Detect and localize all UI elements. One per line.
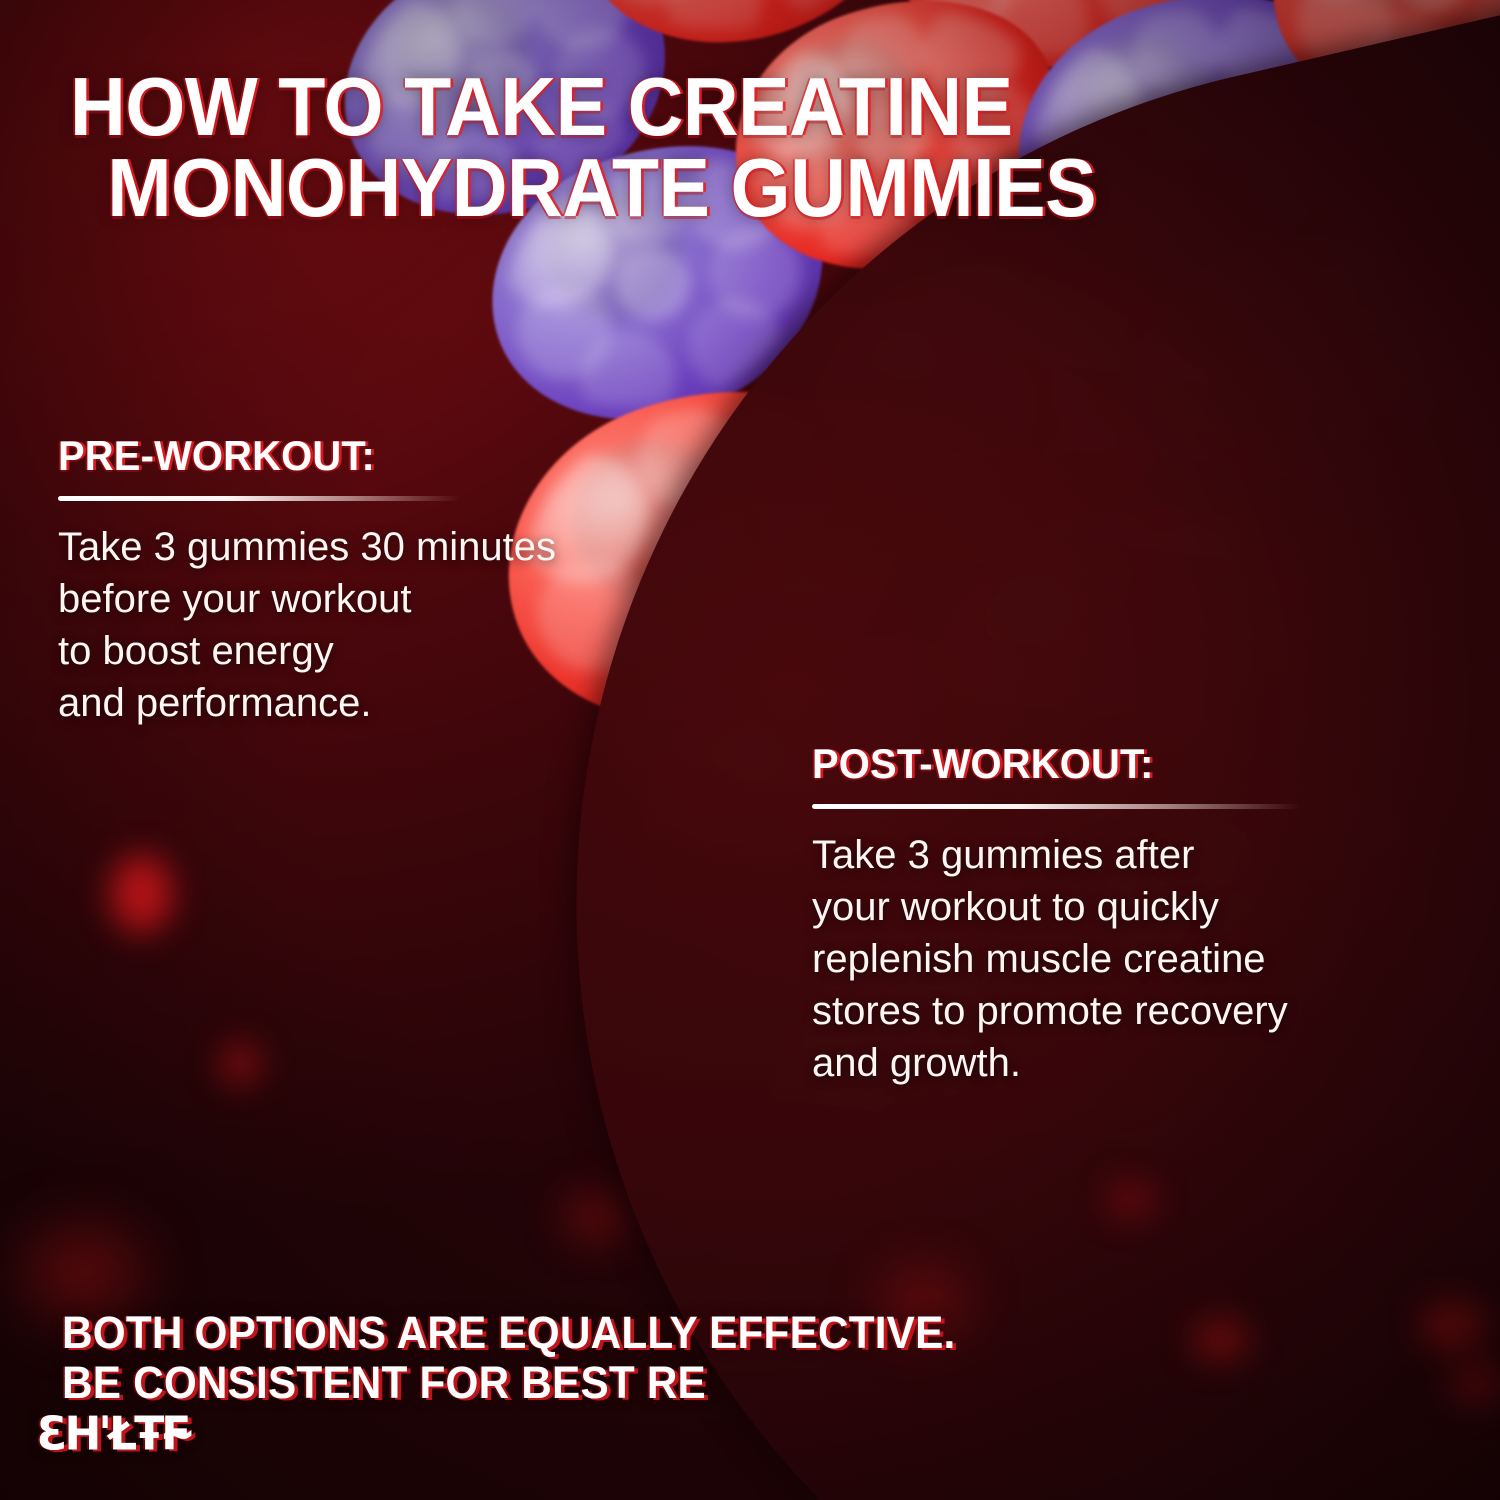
post-workout-section: POST-WORKOUT: Take 3 gummies after your … (812, 740, 1472, 1089)
post-workout-line: and growth. (812, 1037, 1472, 1089)
page-title: HOW TO TAKE CREATINE MONOHYDRATE GUMMIES (70, 66, 1242, 229)
pre-workout-line: before your workout (58, 573, 758, 625)
post-workout-divider (812, 804, 1300, 809)
post-workout-line: Take 3 gummies after (812, 829, 1472, 881)
pre-workout-body: Take 3 gummies 30 minutes before your wo… (58, 521, 758, 729)
pre-workout-line: and performance. (58, 677, 758, 729)
post-workout-heading: POST-WORKOUT: (812, 740, 1439, 788)
creatine-gummies-infographic: HOW TO TAKE CREATINE MONOHYDRATE GUMMIES… (0, 0, 1500, 1500)
post-workout-line: stores to promote recovery (812, 985, 1472, 1037)
footer-callout: BOTH OPTIONS ARE EQUALLY EFFECTIVE. BE C… (62, 1308, 1322, 1459)
footer-garbled-text: ƐH'ŁŦF̴ (37, 1408, 1347, 1459)
pre-workout-line: Take 3 gummies 30 minutes (58, 521, 758, 573)
pre-workout-line: to boost energy (58, 625, 758, 677)
title-line-1: HOW TO TAKE CREATINE (70, 60, 1013, 153)
post-workout-body: Take 3 gummies after your workout to qui… (812, 829, 1472, 1089)
post-workout-line: replenish muscle creatine (812, 933, 1472, 985)
footer-line-2: BE CONSISTENT FOR BEST REƐH'ŁŦF̴ (62, 1358, 1322, 1459)
pre-workout-divider (58, 496, 460, 501)
pre-workout-section: PRE-WORKOUT: Take 3 gummies 30 minutes b… (58, 432, 758, 729)
title-line-2: MONOHYDRATE GUMMIES (70, 147, 1242, 228)
footer-line-1: BOTH OPTIONS ARE EQUALLY EFFECTIVE. (62, 1308, 1322, 1358)
footer-line-2-prefix: BE CONSISTENT FOR BEST RE (62, 1358, 1322, 1408)
pre-workout-heading: PRE-WORKOUT: (58, 432, 723, 480)
post-workout-line: your workout to quickly (812, 881, 1472, 933)
